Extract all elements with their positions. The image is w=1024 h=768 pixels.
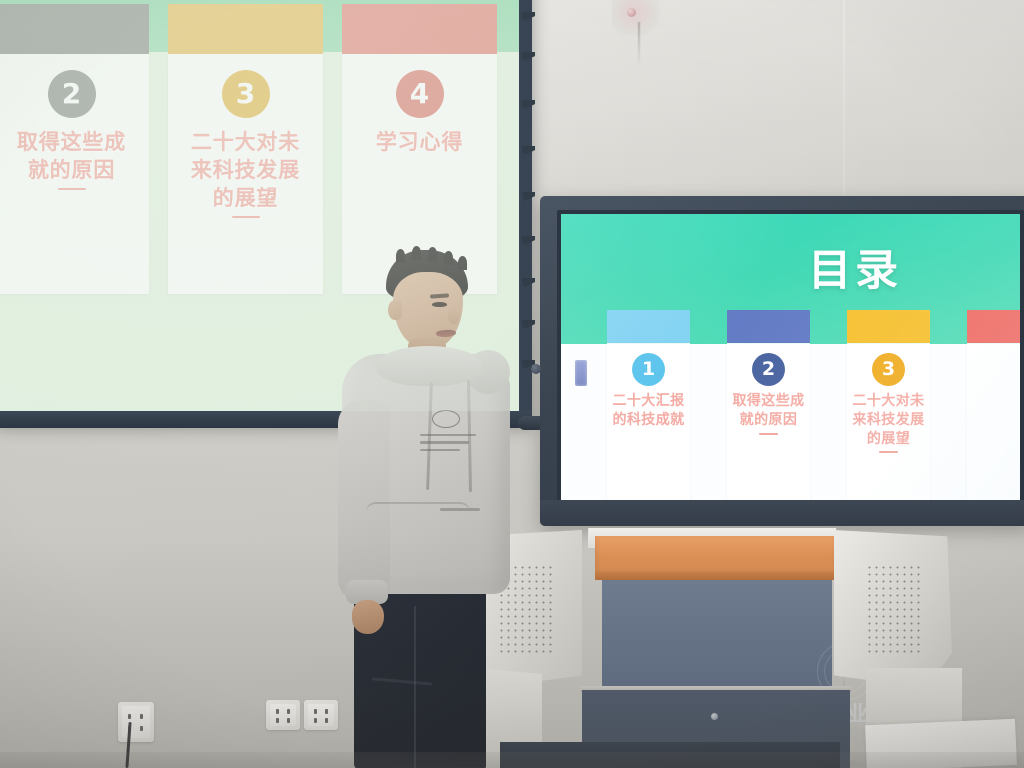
- display-card-3-number: 3: [872, 353, 905, 386]
- display-card-4: [967, 310, 1020, 500]
- projected-card-2-text: 取得这些成就的原因: [13, 128, 131, 184]
- display-card-2-text: 取得这些成就的原因: [728, 392, 810, 430]
- display-slide: 目录 1 二十大汇报的科技成就 2: [561, 214, 1020, 500]
- display-slide-title: 目录: [561, 236, 1020, 298]
- display-card-4-body: [967, 343, 1020, 500]
- projected-card-3-number: 3: [222, 70, 270, 118]
- projected-card-3-underline: [232, 216, 260, 218]
- display-card-3-text: 二十大对未来科技发展的展望: [848, 392, 930, 448]
- presenter-hood-collar: [376, 346, 482, 386]
- projected-card-2-band: [0, 4, 149, 54]
- projected-card-3: 3 二十大对未来科技发展的展望: [168, 4, 323, 294]
- display-card-3-body: 3 二十大对未来科技发展的展望: [847, 343, 930, 500]
- display-card-1-text: 二十大汇报的科技成就: [608, 392, 690, 430]
- display-card-1-band: [607, 310, 690, 343]
- display-bottom-lip: [540, 500, 1024, 526]
- display-card-2: 2 取得这些成就的原因: [727, 310, 810, 500]
- projected-card-2: 2 取得这些成就的原因: [0, 4, 149, 294]
- projected-card-2-number: 2: [48, 70, 96, 118]
- display-card-2-underline: [759, 433, 778, 435]
- presenter-nose: [448, 308, 459, 324]
- projected-card-2-body: 2 取得这些成就的原因: [0, 54, 149, 294]
- display-screen[interactable]: 目录 1 二十大汇报的科技成就 2: [561, 214, 1020, 500]
- classroom-scene: 目录 2 取得这些成就的原因: [0, 0, 1024, 768]
- presenter-ear: [388, 300, 402, 320]
- presenter-hair-spike-5: [458, 256, 467, 270]
- hoodie-print-text: [420, 434, 476, 456]
- display-card-1: 1 二十大汇报的科技成就: [607, 310, 690, 500]
- ceiling-hanging-dot-icon: [627, 8, 636, 17]
- floor-strip: [0, 752, 1024, 768]
- projected-card-4-number: 4: [396, 70, 444, 118]
- presenter-hair-spike-4: [444, 251, 453, 265]
- display-card-2-number: 2: [752, 353, 785, 386]
- display-card-2-body: 2 取得这些成就的原因: [727, 343, 810, 500]
- presenter-hair-spike-2: [412, 246, 421, 260]
- projected-card-2-underline: [58, 188, 86, 190]
- display-slide-card-list: 1 二十大汇报的科技成就 2 取得这些成就的原因: [607, 310, 1020, 500]
- display-side-knob-icon[interactable]: [531, 364, 541, 374]
- display-card-1-number: 1: [632, 353, 665, 386]
- wall-lower-shadow: [0, 538, 1024, 768]
- hoodie-logo-icon: [432, 410, 460, 428]
- projected-card-4-band: [342, 4, 497, 54]
- display-card-1-body: 1 二十大汇报的科技成就: [607, 343, 690, 500]
- display-card-2-band: [727, 310, 810, 343]
- display-card-3: 3 二十大对未来科技发展的展望: [847, 310, 930, 500]
- projected-slide-title: 目录: [0, 0, 519, 2]
- display-card-3-band: [847, 310, 930, 343]
- projected-card-3-text: 二十大对未来科技发展的展望: [187, 128, 305, 212]
- display-side-button[interactable]: [575, 360, 587, 386]
- presenter-hair-spike-1: [396, 249, 405, 263]
- presenter-hair-spike-3: [428, 247, 437, 261]
- display-card-3-underline: [879, 451, 898, 453]
- presenter-mouth: [436, 329, 456, 337]
- interactive-display[interactable]: 目录 1 二十大汇报的科技成就 2: [540, 196, 1024, 526]
- projected-card-4-text: 学习心得: [361, 128, 479, 156]
- display-card-4-band: [967, 310, 1020, 343]
- projected-card-3-band: [168, 4, 323, 54]
- presenter-eye: [432, 302, 447, 307]
- ceiling-hanging-object: [612, 0, 660, 36]
- projected-card-3-body: 3 二十大对未来科技发展的展望: [168, 54, 323, 294]
